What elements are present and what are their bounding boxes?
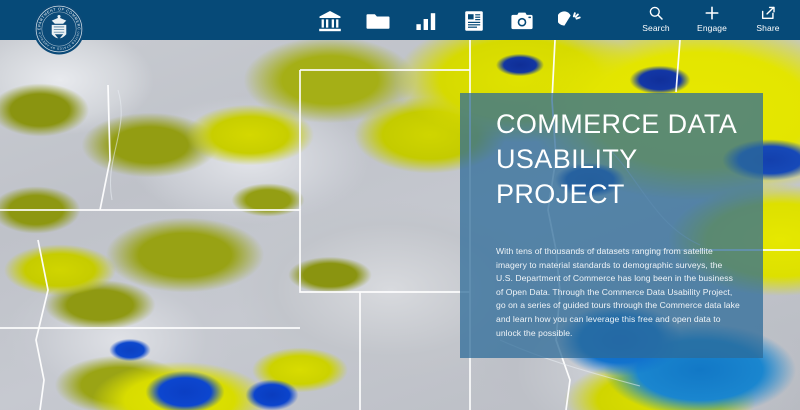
bar-chart-icon[interactable] — [414, 9, 438, 33]
commerce-department-seal[interactable]: DEPARTMENT OF COMMERCE UNITED STATES OF … — [33, 3, 85, 55]
document-article-icon[interactable] — [462, 9, 486, 33]
weather-burst-icon[interactable] — [558, 9, 582, 33]
plus-icon — [704, 5, 720, 21]
share-button[interactable]: Share — [750, 5, 786, 33]
search-button[interactable]: Search — [638, 5, 674, 33]
share-icon — [760, 5, 776, 21]
folder-icon[interactable] — [366, 9, 390, 33]
engage-label: Engage — [697, 23, 727, 33]
search-label: Search — [642, 23, 670, 33]
engage-button[interactable]: Engage — [694, 5, 730, 33]
header-utility-nav: Search Engage Share — [638, 5, 786, 33]
hero-overlay-panel: COMMERCE DATA USABILITY PROJECT With ten… — [460, 93, 763, 358]
header-icon-nav — [318, 8, 582, 34]
share-label: Share — [756, 23, 779, 33]
camera-icon[interactable] — [510, 9, 534, 33]
page-root: COMMERCE DATA USABILITY PROJECT With ten… — [0, 0, 800, 410]
bank-building-icon[interactable] — [318, 9, 342, 33]
page-description: With tens of thousands of datasets rangi… — [496, 245, 741, 340]
page-title: COMMERCE DATA USABILITY PROJECT — [496, 107, 746, 212]
search-icon — [648, 5, 664, 21]
